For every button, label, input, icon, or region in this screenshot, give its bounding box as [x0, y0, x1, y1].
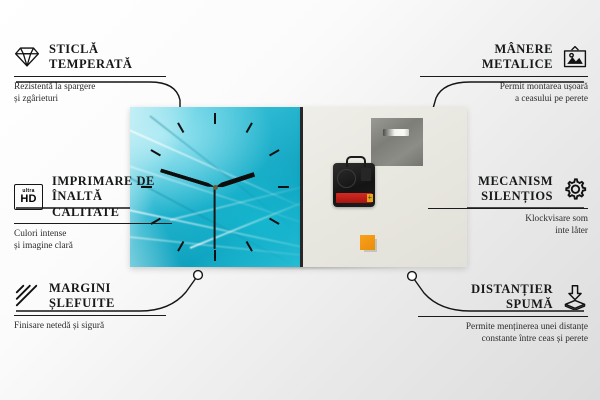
feature-description: Permit montarea ușoară a ceasului pe per…	[420, 81, 588, 106]
clock-mechanism: +	[333, 163, 375, 207]
diamond-icon	[14, 44, 40, 70]
feature-title: MECANISM SILENȚIOS	[478, 174, 553, 205]
picture-frame-hanger-icon	[562, 44, 588, 70]
feature-description: Finisare netedă și sigură	[14, 320, 166, 333]
feature-hq-printing: ultra HD IMPRIMARE DE ÎNALTĂ CALITATE Cu…	[14, 174, 172, 253]
ultra-hd-icon: ultra HD	[14, 184, 43, 210]
battery: +	[336, 193, 372, 203]
feature-description: Permite menținerea unei distanțe constan…	[418, 321, 588, 346]
feature-title: DISTANȚIER SPUMĂ	[471, 282, 553, 313]
mechanism-dial	[337, 169, 356, 188]
product-shadow	[126, 267, 471, 275]
mechanism-housing	[361, 168, 371, 181]
divider	[428, 208, 588, 209]
divider	[14, 315, 166, 316]
divider	[14, 76, 166, 77]
feature-polished-edges: MARGINI ȘLEFUITE Finisare netedă și sigu…	[14, 281, 166, 332]
divider	[418, 316, 588, 317]
clock-second-hand	[214, 187, 216, 249]
divider	[420, 76, 588, 77]
polished-edges-icon	[14, 283, 40, 309]
feature-foam-spacer: DISTANȚIER SPUMĂ Permite menținerea unei…	[418, 282, 588, 346]
feature-title: STICLĂ TEMPERATĂ	[49, 42, 132, 73]
foam-spacer-icon	[562, 284, 588, 310]
feature-title: MÂNERE METALICE	[482, 42, 553, 73]
hanger-slot	[383, 129, 409, 136]
metal-hanger-plate	[371, 118, 423, 166]
mechanism-hanging-loop	[346, 156, 366, 167]
battery-plus-icon: +	[367, 193, 372, 202]
foam-spacer	[360, 235, 375, 250]
feature-description: Culori intense și imagine clară	[14, 228, 172, 253]
gear-icon	[562, 176, 588, 202]
ultra-hd-hd-label: HD	[20, 194, 36, 205]
infographic-stage: + STICLĂ TEMPERATĂ Rezistentă la sparger…	[0, 0, 600, 400]
feature-silent-mechanism: MECANISM SILENȚIOS Klockvisare som inte …	[428, 174, 588, 238]
feature-tempered-glass: STICLĂ TEMPERATĂ Rezistentă la spargere …	[14, 42, 166, 106]
feature-title: IMPRIMARE DE ÎNALTĂ CALITATE	[52, 174, 172, 220]
feature-description: Klockvisare som inte låter	[428, 213, 588, 238]
feature-metal-hangers: MÂNERE METALICE Permit montarea ușoară a…	[420, 42, 588, 106]
feature-title: MARGINI ȘLEFUITE	[49, 281, 115, 312]
clock-center-pivot	[213, 185, 218, 190]
product-photo: +	[130, 107, 467, 270]
feature-description: Rezistentă la spargere și zgârieturi	[14, 81, 166, 106]
divider	[14, 223, 172, 224]
